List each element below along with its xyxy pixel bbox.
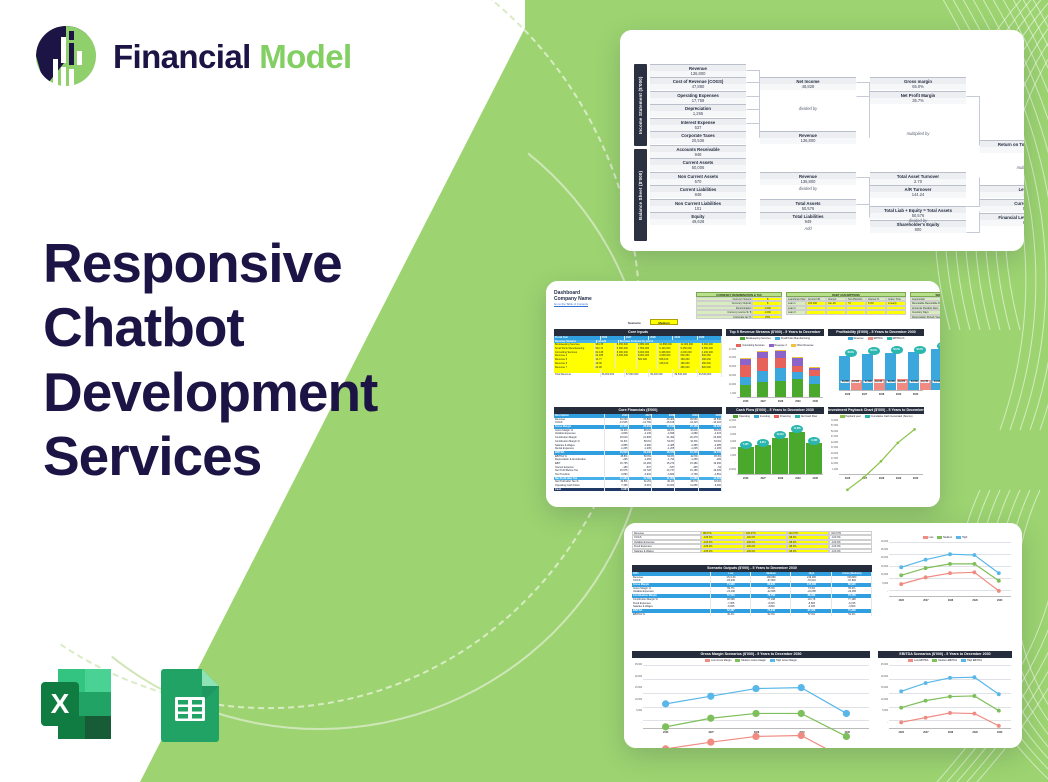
chart-title: Gross Margin Scenarios ($'000) - 5 Years…	[632, 651, 870, 658]
scenario-outputs-section: Scenario Outputs ($'000) - 5 Years to De…	[632, 565, 872, 616]
stacked-bar[interactable]	[792, 350, 803, 397]
value-bubble: 8,015	[757, 439, 769, 447]
legend-swatch	[840, 415, 845, 418]
chart-plot: 30,00025,00020,00015,00010,0005,000-2026…	[878, 540, 1012, 605]
panel-working-capital-depreciation: WORKING CAPITAL & DEPRECIATIONAssumption…	[910, 292, 940, 319]
assumption-cell[interactable]: Salaries & Wages	[632, 549, 701, 553]
revenue-bar[interactable]	[908, 352, 919, 390]
bar-segment	[757, 382, 768, 397]
x-axis: 20262027202820292030	[737, 475, 824, 483]
tree-node-col4-1: Leverage1.9%	[980, 185, 1024, 198]
tree-node-label: Revenue	[760, 172, 856, 179]
legend-item: Financing	[774, 415, 791, 418]
legend-item: EBITDA %	[887, 337, 905, 340]
tree-node-value: 49,628	[650, 219, 746, 225]
panel-cell[interactable]	[886, 310, 906, 314]
plus-sign: -	[695, 131, 696, 136]
tree-node-col2-2: Revenue136,800	[760, 172, 856, 185]
x-tick-label: 2030	[807, 475, 824, 483]
data-point	[948, 571, 952, 575]
table-row: EBITDA %30.4%52.0%57.0%52.0%	[632, 613, 872, 617]
table-cell[interactable]	[652, 488, 675, 492]
table-cell[interactable]	[675, 488, 698, 492]
legend-label: Medium	[943, 536, 952, 539]
table-cell[interactable]: Total Revenue	[554, 373, 601, 377]
revenue-bar[interactable]	[862, 354, 873, 390]
data-point	[798, 684, 805, 691]
table-cell[interactable]: 8,684	[605, 488, 628, 492]
y-axis: 30,00025,00020,00015,00010,0005,000-	[878, 540, 889, 597]
tree-node-label: Equity	[650, 212, 746, 219]
revenue-bar[interactable]	[931, 349, 940, 390]
legend-label: Operating	[739, 415, 750, 418]
dupont-ratio-tree-screenshot[interactable]: Income Statement ($'000) Balance Sheet (…	[620, 30, 1024, 251]
assumption-cell[interactable]: -100.0%	[829, 549, 872, 553]
tree-node-label: Current Assets	[650, 158, 746, 165]
data-point	[948, 711, 952, 715]
bar-group: 8,015	[754, 421, 771, 474]
y-tick-label: 37,000	[831, 447, 838, 449]
value-bubble: 10,004	[774, 431, 786, 439]
legend-item: Low Gross Margin	[705, 659, 731, 662]
table-cell[interactable]: 43,530,000	[698, 373, 722, 377]
legend-swatch	[791, 344, 796, 347]
x-tick-label: 2029	[789, 398, 806, 406]
assumption-cell[interactable]: -100.0%	[744, 549, 787, 553]
table-cell[interactable]: 30.4%	[711, 613, 751, 617]
supported-formats: X	[36, 664, 230, 744]
y-axis: 72,00057,00052,00047,00042,00037,00022,0…	[828, 419, 839, 475]
bar-segment	[757, 358, 768, 371]
data-point	[863, 476, 866, 479]
cash-flow-bar[interactable]	[789, 432, 805, 474]
legend-item: Payback year	[840, 415, 861, 418]
x-tick-label: 2026	[737, 398, 754, 406]
bar-segment	[792, 372, 803, 380]
legend-label: High	[962, 536, 967, 539]
tree-node-col4-3: Financial Leverage multiplier63.22	[980, 213, 1024, 226]
tree-node-col3-1: Net Profit Margin35.7%	[870, 91, 966, 104]
x-tick-label: 2028	[772, 475, 789, 483]
y-tick-label: -	[887, 722, 888, 724]
tree-node-value: 65.0%	[870, 84, 966, 90]
data-point	[997, 589, 1001, 593]
y-tick-label: 12,000	[729, 420, 736, 422]
y-axis: 12,00010,0008,0006,0004,0002,000-(2,000)	[726, 419, 737, 475]
panel-debt-assumptions: DEBT ASSUMPTIONSLoan/Grant NameAmount ($…	[786, 292, 906, 315]
data-point	[997, 579, 1001, 583]
data-point	[972, 562, 976, 566]
legend-label: Revenue	[854, 337, 864, 340]
data-point	[948, 552, 952, 556]
legend-item: Medium Gross Margin	[735, 659, 766, 662]
cash-flow-bar[interactable]	[772, 438, 788, 474]
bar-group: 43,53019,71545.3%	[931, 343, 940, 390]
chart-title: Investment Payback Chart ($'000) - 5 Yea…	[828, 407, 924, 414]
y-tick-label: 20,000	[635, 676, 642, 678]
tree-node-label: Total Asset Turnover	[870, 172, 966, 179]
tree-node-operating-expenses: Operating Expenses17,758	[650, 91, 746, 104]
legend-swatch	[868, 337, 873, 340]
bar-group: 10,004	[771, 421, 788, 474]
data-point	[997, 571, 1001, 575]
y-tick-label: 52,000	[831, 431, 838, 433]
tree-node-label: Current Liabilities	[650, 185, 746, 192]
table-cell[interactable]: 36,000,000	[601, 373, 625, 377]
panel-cell[interactable]	[846, 310, 866, 314]
y-tick-label: 15,000	[635, 687, 642, 689]
line-path	[847, 429, 914, 489]
tree-node-corporate-taxes: Corporate Taxes20,536	[650, 131, 746, 144]
legend-swatch	[736, 344, 741, 347]
y-tick-label: 22,000	[831, 453, 838, 455]
tree-node-value: 63.22	[980, 220, 1024, 226]
value-bubble: 8,460	[808, 437, 820, 445]
table-cell[interactable]: 37,800,000	[625, 373, 649, 377]
y-tick-label: (2,000)	[729, 469, 736, 471]
stacked-bar[interactable]	[740, 350, 751, 397]
tree-operator: multiplied by	[870, 131, 966, 136]
x-tick-label: 2026	[737, 475, 754, 483]
panel-cell[interactable]	[866, 310, 886, 314]
legend-label: Consulting Services	[742, 344, 764, 347]
data-point	[899, 582, 903, 586]
y-tick-label: 42,000	[831, 442, 838, 444]
bar-segment	[757, 371, 768, 382]
legend-swatch	[705, 659, 710, 662]
legend-swatch	[770, 659, 775, 662]
tree-node-value: 35.7%	[870, 98, 966, 104]
table-row: Cash8,684	[554, 488, 722, 492]
data-point	[880, 460, 883, 463]
legend-item: High	[956, 536, 967, 539]
plot-area: 36,00016,52045.8%37,80019,14550.6%39,400…	[839, 343, 923, 391]
y-tick-label: 5,000	[882, 583, 888, 585]
legend-label: Revenue 4	[775, 344, 787, 347]
bar-value-label: 37,800	[864, 381, 873, 383]
panel-value[interactable]: 25%	[752, 315, 782, 319]
table-row: Total Revenue36,000,00037,800,00039,400,…	[554, 373, 722, 377]
chart-plot: 12,00010,0008,0006,0004,0002,000-(2,000)…	[726, 419, 824, 483]
cash-flow-bar[interactable]	[755, 445, 771, 474]
data-point	[997, 692, 1001, 696]
y-tick-label: 10,000	[881, 574, 888, 576]
y-tick-label: 30,000	[881, 541, 888, 543]
legend-item: Low EBITDA	[908, 659, 928, 662]
cash-flow-bar[interactable]	[738, 447, 754, 474]
bar-segment	[792, 358, 803, 365]
tree-node-col2-0: Net Income48,828	[760, 77, 856, 90]
scenario-selector[interactable]: Medium	[650, 319, 678, 325]
bar-segment	[809, 384, 820, 397]
legend-item: Bookkeeping Services	[740, 337, 771, 340]
bar-value-label: 19,145	[874, 381, 883, 383]
legend-item: Medium EBITDA	[932, 659, 957, 662]
tree-node-value: 58.98	[980, 206, 1024, 212]
table-cell[interactable]: 39,530,000	[673, 373, 697, 377]
scenario-analysis-screenshot[interactable]: Revenue88.07%100.07%110.07%100.07%COGS-1…	[624, 523, 1022, 748]
data-point	[948, 695, 952, 699]
data-point	[752, 710, 759, 717]
y-tick-label: -	[887, 591, 888, 593]
page-title: Responsive Chatbot Development Services	[43, 231, 473, 488]
legend-item: High EBITDA	[961, 659, 982, 662]
legend-swatch	[775, 337, 780, 340]
gross-margin-scenarios-chart: Gross Margin Scenarios ($'000) - 5 Years…	[632, 651, 870, 739]
table-cell[interactable]: 39,400,000	[649, 373, 673, 377]
ebitda-scenarios-chart: EBITDA Scenarios ($'000) - 5 Years to De…	[878, 651, 1012, 739]
panel-row: Depreciation Period (Years)5	[910, 315, 940, 319]
data-point	[707, 715, 714, 722]
svg-text:X: X	[51, 688, 70, 719]
google-sheets-icon[interactable]	[150, 664, 230, 744]
y-tick-label: 10,000	[729, 427, 736, 429]
table-cell[interactable]: 52.0%	[832, 613, 872, 617]
x-axis: 20262027202820292030	[839, 391, 924, 399]
bar-value-label: 39,530	[910, 381, 919, 383]
brand-name-part2: Model	[259, 38, 351, 75]
chart-plot: 47,00040,00030,00020,00010,0001,00020262…	[726, 348, 824, 406]
data-point	[899, 565, 903, 569]
legend-item: Investing	[754, 415, 770, 418]
line-series	[889, 542, 1011, 664]
legend-item: High Gross Margin	[770, 659, 797, 662]
y-tick-label: 72,000	[831, 420, 838, 422]
legend-label: High Gross Margin	[776, 659, 797, 662]
legend-swatch	[733, 415, 738, 418]
assumption-cell[interactable]: -105.0%	[701, 549, 744, 553]
x-tick-label: 2027	[856, 391, 873, 399]
data-point	[707, 693, 714, 700]
connector	[746, 123, 760, 138]
top-5-revenue-streams-chart: Top 5 Revenue Streams ($'000) - 5 Years …	[726, 329, 824, 401]
legend-label: Low Gross Margin	[711, 659, 731, 662]
tree-node-label: A/R Turnover	[870, 185, 966, 192]
bar-group: 11,655	[789, 421, 806, 474]
legend-label: Cumulative Cash Generated (Source)	[871, 415, 913, 418]
bar-segment	[775, 358, 786, 367]
legend-swatch	[961, 659, 966, 662]
legend-label: Financing	[780, 415, 791, 418]
tree-node-label: Accounts Receivable	[650, 145, 746, 152]
x-tick-label: 2027	[754, 475, 771, 483]
data-point	[924, 681, 928, 685]
x-tick-label: 2026	[839, 391, 856, 399]
data-point	[752, 733, 759, 740]
line-series	[889, 665, 1011, 748]
tree-operator: divided by	[760, 186, 856, 191]
back-to-contents-link[interactable]: Go to the Table of Contents	[554, 302, 588, 306]
x-tick-label: 2028	[772, 398, 789, 406]
tree-node-value: 144.24	[870, 192, 966, 198]
bar-segment	[775, 351, 786, 358]
tree-node-value: 848	[650, 192, 746, 198]
tree-node-value: 20,536	[650, 138, 746, 144]
bar-segment	[740, 377, 751, 385]
stacked-bar[interactable]	[809, 350, 820, 397]
legend-item: Small Parts Manufacturing	[775, 337, 810, 340]
y-tick-label: 40,000	[729, 357, 736, 359]
cash-flow-bar[interactable]	[806, 443, 822, 474]
legend-swatch	[937, 536, 942, 539]
y-tick-label: 15,000	[881, 566, 888, 568]
poster-canvas: Financial Model Responsive Chatbot Devel…	[0, 0, 1048, 782]
legend-item: Low	[923, 536, 934, 539]
tree-node-col3-3: A/R Turnover144.24	[870, 185, 966, 198]
data-point	[924, 716, 928, 720]
legend-swatch	[774, 415, 779, 418]
pct-bubble: 52.0%	[891, 346, 903, 354]
bar-group: 36,00016,52045.8%	[839, 343, 862, 390]
tree-operator: divided by	[870, 218, 966, 223]
chart-title: Cash Flow ($'000) - 5 Years to December …	[726, 407, 824, 414]
data-point	[662, 700, 669, 707]
revenue-scenarios-chart: LowMediumHigh30,00025,00020,00015,00010,…	[878, 535, 1012, 607]
panel-cell[interactable]: Depreciation Period (Years)	[910, 315, 940, 319]
line-path	[901, 677, 999, 694]
y-tick-label: 47,000	[831, 436, 838, 438]
tree-node-current-assets: Current Assets50,006	[650, 158, 746, 171]
brand-logo[interactable]: Financial Model	[35, 25, 352, 87]
legend-swatch	[887, 337, 892, 340]
chart-title: Top 5 Revenue Streams ($'000) - 5 Years …	[726, 329, 824, 336]
panel-cell[interactable]: Loan 3	[786, 310, 806, 314]
dashboard-title: Dashboard Company Name	[554, 290, 592, 302]
bar-group: 8,460	[806, 421, 823, 474]
data-point	[843, 710, 850, 717]
microsoft-excel-icon[interactable]: X	[36, 664, 116, 744]
connector	[856, 96, 870, 138]
tree-node-label: Operating Expenses	[650, 91, 746, 98]
pct-bubble: 50.6%	[868, 347, 880, 355]
bar-value-label: 16,745	[920, 381, 929, 383]
tree-node-value: 48,828	[760, 84, 856, 90]
band-balance-sheet: Balance Sheet ($'000)	[634, 149, 647, 241]
panel-row: Corporate tax %25%	[696, 315, 782, 319]
tree-node-label: Non Current Liabilities	[650, 199, 746, 206]
tree-node-cost-of-revenue-cogs-: Cost of Revenue (COGS)47,880	[650, 77, 746, 90]
tree-node-label: Corporate Taxes	[650, 131, 746, 138]
panel-row: Loan 3	[786, 310, 906, 314]
connector	[966, 96, 980, 146]
tree-node-label: Depreciation	[650, 104, 746, 111]
table-cell[interactable]: EBITDA %	[632, 613, 711, 617]
y-tick-label: 5,000	[636, 710, 642, 712]
tree-node-value: 136,800	[760, 179, 856, 185]
panel-cell[interactable]	[806, 310, 826, 314]
table-cell[interactable]: Cash	[554, 488, 605, 492]
data-point	[924, 699, 928, 703]
tree-node-col2-4: Total Liabilities949	[760, 212, 856, 225]
tree-operator: divided by	[760, 106, 856, 111]
data-point	[707, 739, 714, 746]
revenue-bar[interactable]	[839, 356, 850, 390]
legend-label: Investing	[760, 415, 770, 418]
table-cell[interactable]: 57.0%	[791, 613, 831, 617]
data-point	[972, 675, 976, 679]
y-tick-label: 47,000	[729, 349, 736, 351]
data-point	[972, 553, 976, 557]
connector	[856, 177, 870, 207]
y-tick-label: 25,000	[881, 549, 888, 551]
plot-area: 7,4658,01510,00411,6558,460	[737, 421, 823, 475]
data-point	[662, 723, 669, 730]
revenue-bar[interactable]	[885, 353, 896, 390]
data-point	[899, 689, 903, 693]
connector	[966, 177, 980, 207]
bar-group: 39,40018,37452.0%	[885, 343, 908, 390]
legend-label: Low	[929, 536, 934, 539]
legend-label: Other Revenue	[797, 344, 814, 347]
legend-swatch	[932, 659, 937, 662]
assumption-cell[interactable]: -98.0%	[787, 549, 830, 553]
y-tick-label: -	[641, 722, 642, 724]
bar-value-label: 18,374	[897, 381, 906, 383]
stacked-bar[interactable]	[775, 350, 786, 397]
y-tick-label: 1,000	[832, 469, 838, 471]
tree-node-label: Revenue	[650, 64, 746, 71]
table-cell[interactable]	[629, 488, 652, 492]
tree-node-label: Return on Total Assets (ROA)	[980, 140, 1024, 147]
tree-node-label: Net Income	[760, 77, 856, 84]
y-tick-label: 8,000	[730, 434, 736, 436]
financial-dashboard-screenshot[interactable]: Dashboard Company Name Go to the Table o…	[546, 281, 940, 507]
pct-bubble: 45.8%	[845, 349, 857, 357]
data-point	[924, 558, 928, 562]
tree-node-col2-3: Total Assets50,576	[760, 199, 856, 212]
core-financials-section: Core Financials ($'000)Description202620…	[554, 407, 722, 491]
section-header: Core Inputs	[554, 329, 722, 336]
data-point	[899, 573, 903, 577]
tree-node-label: Current Ratio	[980, 199, 1024, 206]
panel-cell[interactable]	[826, 310, 846, 314]
circle-bar-chart-logo-icon	[35, 25, 97, 87]
legend-item: Revenue 4	[769, 344, 787, 347]
legend-swatch	[795, 415, 800, 418]
data-point	[913, 428, 916, 431]
bar-group	[771, 350, 788, 397]
tree-node-interest-expense: Interest Expense537	[650, 118, 746, 131]
data-point	[997, 709, 1001, 713]
scenario-label: Scenario	[628, 321, 641, 325]
y-tick-label: 4,000	[730, 448, 736, 450]
tree-node-depreciation: Depreciation1,265	[650, 104, 746, 117]
stacked-bar[interactable]	[757, 350, 768, 397]
legend-label: Bookkeeping Services	[746, 337, 771, 340]
bar-segment	[740, 385, 751, 397]
table-cell[interactable]	[699, 488, 722, 492]
tree-node-col3-0: Gross margin65.0%	[870, 77, 966, 90]
legend-swatch	[735, 659, 740, 662]
y-axis: 47,00040,00030,00020,00010,0001,000	[726, 348, 737, 398]
tree-node-label: Non Current Assets	[650, 172, 746, 179]
y-tick-label: 15,000	[881, 687, 888, 689]
panel-key: Corporate tax %	[696, 315, 752, 319]
bar-segment	[775, 381, 786, 397]
connector	[966, 211, 980, 233]
table-cell[interactable]: 52.0%	[751, 613, 791, 617]
tree-node-value: 949	[760, 219, 856, 225]
tree-node-equity: Equity49,628	[650, 212, 746, 225]
legend-label: EBITDA %	[893, 337, 905, 340]
x-tick-label: 2030	[807, 398, 824, 406]
value-bubble: 7,465	[740, 441, 752, 449]
chart-title: EBITDA Scenarios ($'000) - 5 Years to De…	[878, 651, 1012, 658]
data-point	[899, 720, 903, 724]
chart-plot: 2026202720282029203036,00016,52045.8%37,…	[828, 341, 924, 399]
legend-item: Cumulative Cash Generated (Source)	[865, 415, 913, 418]
plot-area	[737, 350, 823, 398]
